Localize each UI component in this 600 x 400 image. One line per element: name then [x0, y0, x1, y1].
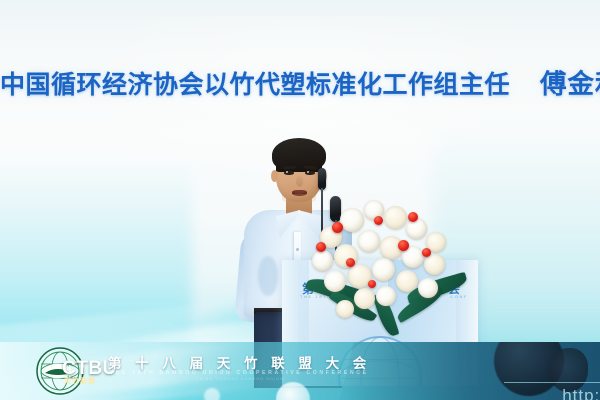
headline-speaker-name: 傅金和 [540, 69, 600, 100]
bouquet-rose [424, 254, 445, 275]
shirt-button [296, 248, 299, 251]
banner-subtitle-en: THE 18TH BAMBOO UNION COOPERATIVE CONFER… [110, 370, 369, 376]
ctbu-logo-subtext: 天竹联盟 [64, 376, 96, 386]
headline-text: 中国循环经济协会以竹代塑标准化工作组主任傅金和 [0, 62, 600, 101]
banner-url-rule [504, 382, 600, 384]
headline-title: 中国循环经济协会以竹代塑标准化工作组主任 [0, 70, 510, 99]
bouquet-rose [372, 258, 395, 281]
banner-light-dot [276, 382, 310, 400]
conference-photo: 中国循环经济协会以竹代塑标准化工作组主任傅金和 [0, 0, 600, 400]
microphone-head [318, 168, 326, 190]
flower-bouquet [310, 196, 470, 326]
bouquet-rose [340, 208, 364, 232]
conference-banner: CTBU 天竹联盟 第 十 八 届 天 竹 联 盟 大 会 THE 18TH B… [0, 342, 600, 400]
bouquet-accent-flower [374, 216, 383, 225]
bouquet-accent-flower [422, 248, 431, 257]
bouquet-accent-flower [332, 222, 343, 233]
bouquet-rose [384, 206, 407, 229]
shirt-fold [258, 256, 278, 296]
banner-title: 第 十 八 届 天 竹 联 盟 大 会 [108, 352, 371, 372]
bouquet-rose [312, 250, 333, 271]
bouquet-accent-flower [398, 240, 409, 251]
bouquet-rose [376, 286, 396, 306]
speaker-nose [296, 176, 303, 187]
bouquet-rose [418, 278, 438, 298]
bouquet-rose [336, 300, 354, 318]
bouquet-accent-flower [316, 242, 326, 252]
bouquet-accent-flower [368, 280, 376, 288]
bouquet-rose [396, 270, 418, 292]
bouquet-rose [358, 230, 380, 252]
bouquet-rose [354, 288, 375, 309]
bouquet-rose [406, 218, 427, 239]
banner-subtitle-small: CHINA TIANZHU BAMBOO UNION [196, 377, 284, 381]
speaker-hair [272, 138, 326, 172]
banner-url: http:/ [562, 386, 600, 400]
bouquet-rose [324, 270, 346, 292]
bouquet-accent-flower [408, 212, 418, 222]
backdrop-left-tint [0, 0, 192, 400]
bouquet-accent-flower [346, 258, 355, 267]
banner-light-dot [204, 388, 220, 400]
